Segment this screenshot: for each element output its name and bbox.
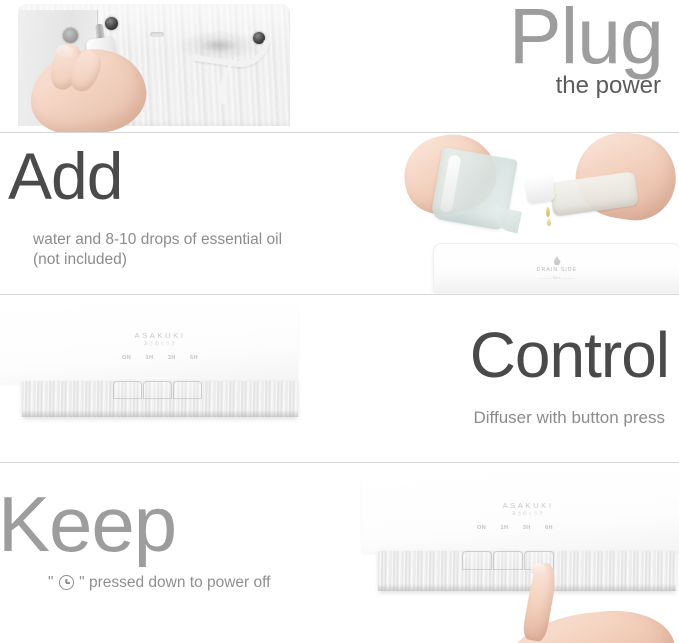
- mode-label-row: ON 1H 3H 6H: [477, 525, 553, 531]
- subline-control: Diffuser with button press: [474, 407, 666, 429]
- oil-droplet: [546, 207, 550, 217]
- mode-label-6h: 6H: [190, 355, 198, 361]
- diffuser-button-3[interactable]: [173, 381, 202, 399]
- product-infographic: Plug the power DRAIN SIDE ——— Max ——— Ad…: [0, 0, 679, 643]
- brand-name: ASAKUKI: [478, 501, 578, 510]
- mode-label-row: ON 1H 3H 6H: [122, 355, 198, 361]
- diffuser-button-2[interactable]: [493, 551, 523, 570]
- headline-keep: Keep: [0, 485, 176, 563]
- clock-icon: [59, 575, 74, 590]
- brand-japanese: あさのくうき: [478, 511, 578, 517]
- subline-add-secondary: (not included): [33, 250, 127, 270]
- oil-bottle-cap: [524, 174, 555, 204]
- subline-plug: the power: [556, 71, 661, 102]
- oil-droplet: [547, 219, 551, 226]
- section-control: ASAKUKI あさのくうき ON 1H 3H 6H Control Diffu…: [0, 295, 679, 462]
- section-add: DRAIN SIDE ——— Max ——— Add water and 8-1…: [0, 133, 679, 294]
- beaker-spout: [492, 207, 522, 234]
- brand-name: ASAKUKI: [110, 331, 210, 340]
- mode-label-1h: 1H: [501, 525, 509, 531]
- water-drop-icon: [554, 256, 561, 265]
- mode-label-3h: 3H: [168, 355, 176, 361]
- section-keep: ASAKUKI あさのくうき ON 1H 3H 6H Keep " " pres…: [0, 463, 679, 643]
- socket-hole-left: [63, 28, 78, 43]
- drain-side-marking: DRAIN SIDE ——— Max ———: [434, 256, 679, 280]
- quote-open: ": [48, 574, 54, 591]
- headline-add: Add: [8, 143, 122, 209]
- diffuser-button-2[interactable]: [143, 381, 172, 399]
- mode-label-3h: 3H: [523, 525, 531, 531]
- drain-side-label: DRAIN SIDE: [434, 267, 679, 273]
- screw-hole-top: [105, 17, 118, 30]
- headline-plug: Plug: [509, 0, 663, 75]
- panel-slot: [150, 32, 164, 37]
- brand-mark: ASAKUKI あさのくうき: [110, 331, 210, 347]
- subline-add: water and 8-10 drops of essential oil: [33, 230, 282, 250]
- diffuser-button-1[interactable]: [113, 381, 142, 399]
- diffuser-button-1[interactable]: [462, 551, 492, 570]
- subline-keep: " " pressed down to power off: [48, 573, 270, 593]
- mode-label-on: ON: [122, 355, 131, 361]
- brand-japanese: あさのくうき: [110, 341, 210, 347]
- mode-label-1h: 1H: [146, 355, 154, 361]
- mode-label-on: ON: [477, 525, 486, 531]
- brand-mark: ASAKUKI あさのくうき: [478, 501, 578, 517]
- mode-label-6h: 6H: [545, 525, 553, 531]
- diffuser-base-drain-side: DRAIN SIDE ——— Max ———: [433, 243, 679, 293]
- section-plug: Plug the power: [0, 0, 679, 132]
- headline-control: Control: [470, 323, 669, 387]
- drain-max-label: ——— Max ———: [434, 276, 679, 280]
- subline-keep-text: " pressed down to power off: [79, 574, 270, 591]
